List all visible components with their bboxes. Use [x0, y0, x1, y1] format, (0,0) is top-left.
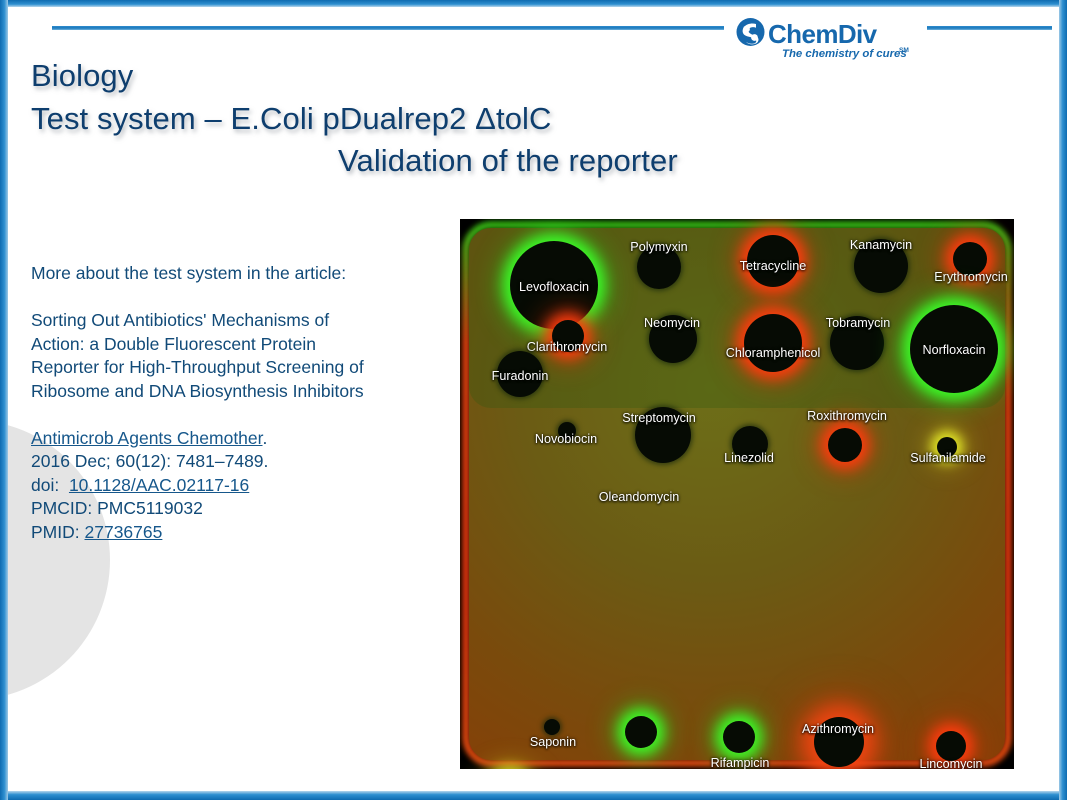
- frame-bottom-border: [0, 791, 1067, 800]
- antibiotic-spot: [732, 426, 768, 462]
- article-title-line-3: Reporter for High-Throughput Screening o…: [31, 356, 451, 380]
- antibiotic-spot: [637, 245, 681, 289]
- antibiotic-spot: [635, 407, 691, 463]
- pmid-link[interactable]: 27736765: [85, 522, 163, 542]
- pmcid-value: PMC5119032: [97, 498, 203, 518]
- frame-left-border: [0, 0, 8, 800]
- article-title-line-4: Ribosome and DNA Biosynthesis Inhibitors: [31, 380, 451, 404]
- page-subtitle: Validation of the reporter: [338, 143, 678, 179]
- article-intro: More about the test system in the articl…: [31, 262, 451, 286]
- antibiotic-spot: [910, 305, 998, 393]
- antibiotic-spot: [723, 721, 755, 753]
- antibiotic-spot: [747, 235, 799, 287]
- petri-plate-image: LevofloxacinPolymyxinTetracyclineKanamyc…: [460, 219, 1014, 769]
- antibiotic-spot: [828, 428, 862, 462]
- citation-line: 2016 Dec; 60(12): 7481–7489.: [31, 450, 451, 474]
- pmid-line: PMID: 27736765: [31, 521, 451, 545]
- antibiotic-spot: [625, 716, 657, 748]
- frame-right-border: [1059, 0, 1067, 800]
- spacer: [31, 403, 451, 427]
- pmcid-line: PMCID: PMC5119032: [31, 497, 451, 521]
- pmcid-label: PMCID:: [31, 498, 92, 518]
- frame-top-border: [0, 0, 1067, 7]
- journal-line: Antimicrob Agents Chemother.: [31, 427, 451, 451]
- pmid-label: PMID:: [31, 522, 80, 542]
- antibiotic-spot: [510, 241, 598, 329]
- page-title-line-2: Test system – E.Coli pDualrep2 ΔtolC: [31, 101, 552, 137]
- antibiotic-spot: [558, 422, 576, 440]
- journal-suffix: .: [263, 428, 268, 448]
- page-title-line-1: Biology: [31, 58, 133, 94]
- antibiotic-spot: [830, 316, 884, 370]
- antibiotic-spot: [744, 314, 802, 372]
- antibiotic-spot: [937, 437, 957, 457]
- doi-link[interactable]: 10.1128/AAC.02117-16: [69, 475, 249, 495]
- article-title-line-1: Sorting Out Antibiotics' Mechanisms of: [31, 309, 451, 333]
- header-rule-left: [52, 26, 724, 30]
- doi-label: doi:: [31, 475, 59, 495]
- logo-servicemark: SM: [899, 47, 909, 54]
- antibiotic-spot: [544, 719, 560, 735]
- antibiotic-spot: [649, 315, 697, 363]
- antibiotic-spot: [953, 242, 987, 276]
- header-rule-right: [927, 26, 1052, 30]
- doi-line: doi: 10.1128/AAC.02117-16: [31, 474, 451, 498]
- spacer: [31, 286, 451, 310]
- antibiotic-spot: [936, 731, 966, 761]
- antibiotic-spot: [814, 717, 864, 767]
- logo-tagline: The chemistry of cures: [782, 48, 907, 60]
- slide-root: ChemDiv The chemistry of cures SM Biolog…: [0, 0, 1067, 800]
- article-reference-block: More about the test system in the articl…: [31, 262, 451, 544]
- article-title-line-2: Action: a Double Fluorescent Protein: [31, 333, 451, 357]
- chemdiv-logo: ChemDiv The chemistry of cures SM: [735, 16, 920, 62]
- antibiotic-spot: [497, 351, 543, 397]
- logo-wordmark: ChemDiv: [768, 19, 878, 49]
- antibiotic-spot: [552, 320, 584, 352]
- journal-link[interactable]: Antimicrob Agents Chemother: [31, 428, 263, 448]
- antibiotic-spot: [854, 239, 908, 293]
